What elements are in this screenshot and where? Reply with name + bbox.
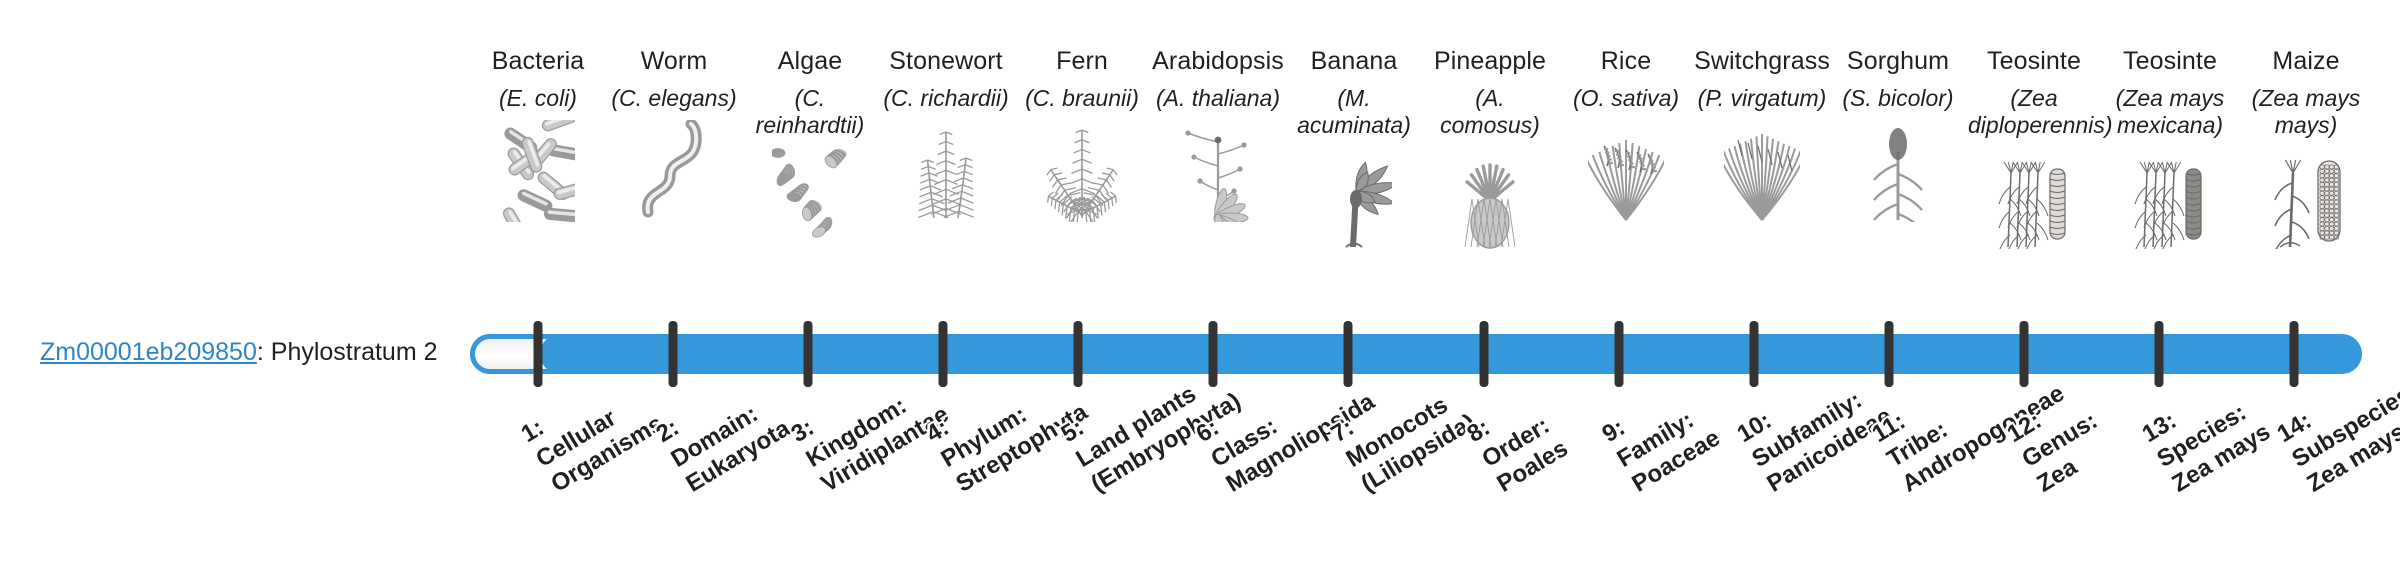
stratum-tick: [1749, 321, 1758, 387]
species-common-name: Switchgrass: [1694, 46, 1830, 76]
stratum-tick: [1885, 321, 1894, 387]
species-column: Sorghum(S. bicolor): [1830, 46, 1966, 249]
species-column: Maize(Zea mays mays): [2238, 46, 2374, 249]
species-common-name: Teosinte: [1987, 46, 2081, 76]
species-common-name: Fern: [1056, 46, 1108, 76]
species-common-name: Banana: [1311, 46, 1398, 76]
maize-illustration: [2238, 145, 2374, 249]
species-column: Teosinte(Zea mays mexicana): [2102, 46, 2238, 249]
banana-illustration: [1286, 145, 1422, 249]
species-header-row: Bacteria(E. coli)Worm(C. elegans)Algae(C…: [470, 46, 2362, 249]
rice-illustration: [1558, 118, 1694, 222]
stratum-tick: [803, 321, 812, 387]
species-column: Banana(M. acuminata): [1286, 46, 1422, 249]
species-column: Arabidopsis(A. thaliana): [1150, 46, 1286, 249]
phylostratum-value: Phylostratum 2: [271, 338, 438, 366]
stratum-tick: [939, 321, 948, 387]
species-column: Switchgrass(P. virgatum): [1694, 46, 1830, 249]
species-column: Fern(C. braunii): [1014, 46, 1150, 249]
species-latin-name: (Zea diploperennis): [1968, 85, 2100, 139]
species-common-name: Sorghum: [1847, 46, 1949, 76]
species-latin-name: (Zea mays mexicana): [2104, 85, 2236, 139]
species-column: Worm(C. elegans): [606, 46, 742, 249]
gene-label-separator: :: [257, 338, 271, 366]
species-common-name: Maize: [2272, 46, 2339, 76]
species-latin-name: (Zea mays mays): [2240, 85, 2372, 139]
species-latin-name: (A. thaliana): [1156, 85, 1280, 112]
species-latin-name: (M. acuminata): [1288, 85, 1420, 139]
stratum-tick: [668, 321, 677, 387]
tick-mark-layer: [470, 334, 2362, 374]
teosinte-mexicana-illustration: [2102, 145, 2238, 249]
species-column: Algae(C. reinhardtii): [742, 46, 878, 249]
bacteria-illustration: [470, 118, 606, 222]
species-latin-name: (E. coli): [499, 85, 577, 112]
species-column: Stonewort(C. richardii): [878, 46, 1014, 249]
switchgrass-illustration: [1694, 118, 1830, 222]
phylostratum-figure: Bacteria(E. coli)Worm(C. elegans)Algae(C…: [0, 0, 2400, 580]
stratum-label: 13:Species:Zea mays: [2137, 368, 2276, 499]
species-latin-name: (C. braunii): [1025, 85, 1139, 112]
gene-phylostratum-label: Zm00001eb209850: Phylostratum 2: [40, 337, 438, 367]
pineapple-illustration: [1422, 145, 1558, 249]
species-column: Bacteria(E. coli): [470, 46, 606, 249]
fern-illustration: [1014, 118, 1150, 222]
stratum-label: 9:Family:Poaceae: [1597, 374, 1725, 499]
species-latin-name: (C. reinhardtii): [744, 85, 876, 139]
stratum-label: 8:Order:Poales: [1462, 384, 1573, 498]
stonewort-illustration: [878, 118, 1014, 222]
species-common-name: Worm: [641, 46, 708, 76]
species-column: Rice(O. sativa): [1558, 46, 1694, 249]
species-common-name: Bacteria: [492, 46, 585, 76]
teosinte-diploperennis-illustration: [1966, 145, 2102, 249]
worm-illustration: [606, 118, 742, 222]
stratum-tick: [2290, 321, 2299, 387]
stratum-tick: [1614, 321, 1623, 387]
species-latin-name: (C. elegans): [611, 85, 736, 112]
species-common-name: Stonewort: [889, 46, 1002, 76]
species-common-name: Arabidopsis: [1152, 46, 1284, 76]
species-common-name: Teosinte: [2123, 46, 2217, 76]
species-column: Pineapple(A. comosus): [1422, 46, 1558, 249]
stratum-tick: [2155, 321, 2164, 387]
species-common-name: Algae: [778, 46, 842, 76]
stratum-tick: [1074, 321, 1083, 387]
species-common-name: Rice: [1601, 46, 1651, 76]
species-latin-name: (P. virgatum): [1698, 85, 1827, 112]
species-latin-name: (O. sativa): [1573, 85, 1679, 112]
species-common-name: Pineapple: [1434, 46, 1546, 76]
arabidopsis-illustration: [1150, 118, 1286, 222]
gene-id-link[interactable]: Zm00001eb209850: [40, 338, 257, 366]
stratum-tick: [1479, 321, 1488, 387]
species-latin-name: (C. richardii): [883, 85, 1008, 112]
species-latin-name: (S. bicolor): [1842, 85, 1953, 112]
species-column: Teosinte(Zea diploperennis): [1966, 46, 2102, 249]
species-latin-name: (A. comosus): [1424, 85, 1556, 139]
sorghum-illustration: [1830, 118, 1966, 222]
stratum-tick: [533, 321, 542, 387]
algae-illustration: [742, 145, 878, 249]
